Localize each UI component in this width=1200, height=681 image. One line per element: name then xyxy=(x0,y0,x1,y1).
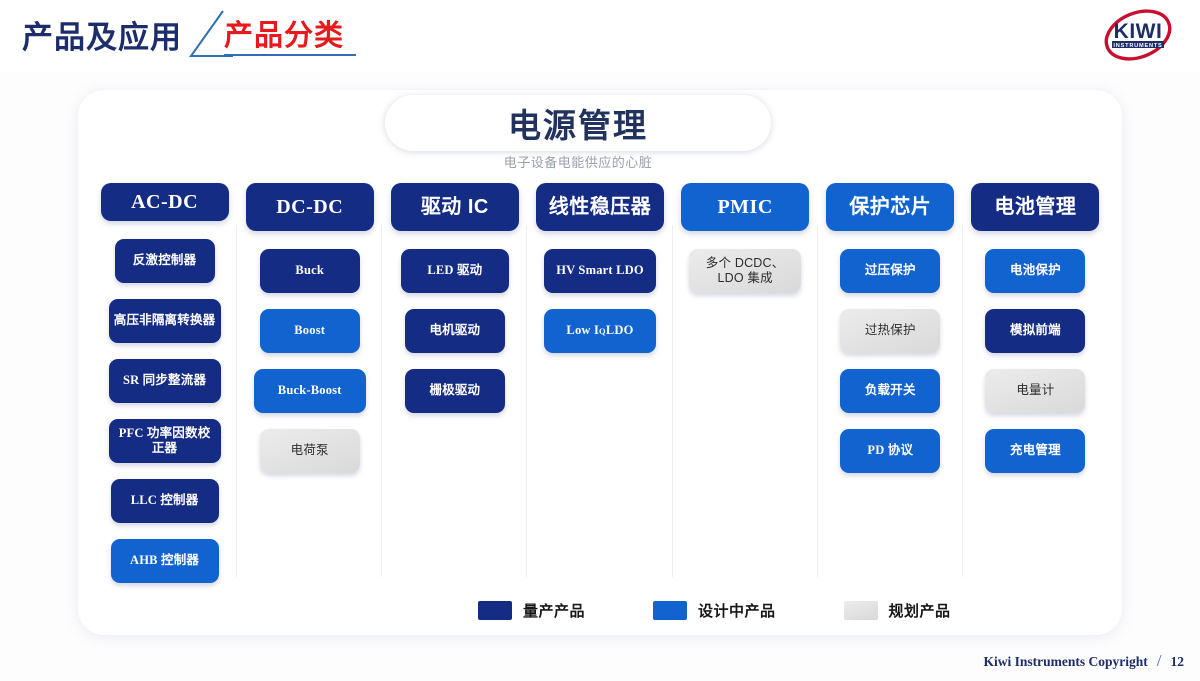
product-item[interactable]: 电机驱动 xyxy=(405,309,505,353)
product-item[interactable]: Low IQ LDO xyxy=(544,309,656,353)
category-column: PMIC多个 DCDC、LDO 集成 xyxy=(673,183,818,583)
svg-text:KIWI: KIWI xyxy=(1114,20,1163,43)
category-item-list: HV Smart LDOLow IQ LDO xyxy=(527,249,672,353)
page-title: 产品及应用 xyxy=(22,12,182,57)
legend-item: 设计中产品 xyxy=(653,600,776,621)
product-category-card: 电源管理 电子设备电能供应的心脏 AC-DC反激控制器高压非隔离转换器SR 同步… xyxy=(78,90,1122,635)
status-legend: 量产产品设计中产品规划产品 xyxy=(478,595,1098,625)
product-item[interactable]: LLC 控制器 xyxy=(111,479,219,523)
legend-swatch xyxy=(844,601,878,620)
category-subtitle: 电子设备电能供应的心脏 xyxy=(385,152,771,171)
product-item[interactable]: 多个 DCDC、LDO 集成 xyxy=(689,249,801,293)
product-item[interactable]: 过热保护 xyxy=(840,309,940,353)
legend-label: 规划产品 xyxy=(889,600,951,621)
category-column-header[interactable]: 驱动 IC xyxy=(391,183,519,231)
legend-label: 量产产品 xyxy=(523,600,585,621)
product-item[interactable]: Buck-Boost xyxy=(254,369,366,413)
copyright-text: Kiwi Instruments Copyright xyxy=(984,654,1148,670)
legend-label: 设计中产品 xyxy=(698,600,776,621)
category-column: 驱动 ICLED 驱动电机驱动栅极驱动 xyxy=(382,183,527,583)
category-column-header[interactable]: 电池管理 xyxy=(971,183,1099,231)
svg-text:INSTRUMENTS: INSTRUMENTS xyxy=(1113,43,1162,49)
category-column-header[interactable]: DC-DC xyxy=(246,183,374,231)
product-item[interactable]: 栅极驱动 xyxy=(405,369,505,413)
category-item-list: 过压保护过热保护负载开关PD 协议 xyxy=(818,249,963,473)
product-item[interactable]: PFC 功率因数校正器 xyxy=(109,419,221,463)
category-column: 保护芯片过压保护过热保护负载开关PD 协议 xyxy=(818,183,963,583)
product-item[interactable]: 过压保护 xyxy=(840,249,940,293)
category-item-list: 多个 DCDC、LDO 集成 xyxy=(673,249,818,293)
category-title-pill: 电源管理 xyxy=(385,95,771,151)
legend-swatch xyxy=(478,601,512,620)
category-column: AC-DC反激控制器高压非隔离转换器SR 同步整流器PFC 功率因数校正器LLC… xyxy=(92,183,237,583)
title-underline xyxy=(224,54,356,56)
category-column: 电池管理电池保护模拟前端电量计充电管理 xyxy=(963,183,1108,583)
category-column-header[interactable]: 保护芯片 xyxy=(826,183,954,231)
category-item-list: BuckBoostBuck-Boost电荷泵 xyxy=(237,249,382,473)
product-item[interactable]: HV Smart LDO xyxy=(544,249,656,293)
legend-swatch xyxy=(653,601,687,620)
product-item[interactable]: 电量计 xyxy=(985,369,1085,413)
product-item[interactable]: Boost xyxy=(260,309,360,353)
category-item-list: LED 驱动电机驱动栅极驱动 xyxy=(382,249,527,413)
product-item[interactable]: SR 同步整流器 xyxy=(109,359,221,403)
category-column-header[interactable]: AC-DC xyxy=(101,183,229,221)
category-column-header[interactable]: PMIC xyxy=(681,183,809,231)
category-column: DC-DCBuckBoostBuck-Boost电荷泵 xyxy=(237,183,382,583)
product-item[interactable]: 充电管理 xyxy=(985,429,1085,473)
category-columns: AC-DC反激控制器高压非隔离转换器SR 同步整流器PFC 功率因数校正器LLC… xyxy=(92,183,1108,583)
footer-separator: / xyxy=(1157,651,1162,671)
product-item[interactable]: 电荷泵 xyxy=(260,429,360,473)
product-item[interactable]: Buck xyxy=(260,249,360,293)
category-item-list: 电池保护模拟前端电量计充电管理 xyxy=(963,249,1108,473)
page-number: 12 xyxy=(1171,654,1185,670)
product-item[interactable]: LED 驱动 xyxy=(401,249,509,293)
category-item-list: 反激控制器高压非隔离转换器SR 同步整流器PFC 功率因数校正器LLC 控制器A… xyxy=(92,239,237,583)
product-item[interactable]: 负载开关 xyxy=(840,369,940,413)
category-column-header[interactable]: 线性稳压器 xyxy=(536,183,664,231)
product-item[interactable]: 高压非隔离转换器 xyxy=(109,299,221,343)
product-item[interactable]: AHB 控制器 xyxy=(111,539,219,583)
page-header: 产品及应用 产品分类 KIWI INSTRUMENTS xyxy=(0,0,1200,72)
product-item[interactable]: PD 协议 xyxy=(840,429,940,473)
legend-item: 规划产品 xyxy=(844,600,951,621)
category-title: 电源管理 xyxy=(508,99,648,147)
kiwi-instruments-logo: KIWI INSTRUMENTS xyxy=(1092,4,1184,66)
product-item[interactable]: 电池保护 xyxy=(985,249,1085,293)
product-item[interactable]: 反激控制器 xyxy=(115,239,215,283)
product-item[interactable]: 模拟前端 xyxy=(985,309,1085,353)
breadcrumb-current: 产品分类 xyxy=(224,12,344,54)
legend-item: 量产产品 xyxy=(478,600,585,621)
category-column: 线性稳压器HV Smart LDOLow IQ LDO xyxy=(527,183,672,583)
page-footer: Kiwi Instruments Copyright / 12 xyxy=(984,651,1185,671)
